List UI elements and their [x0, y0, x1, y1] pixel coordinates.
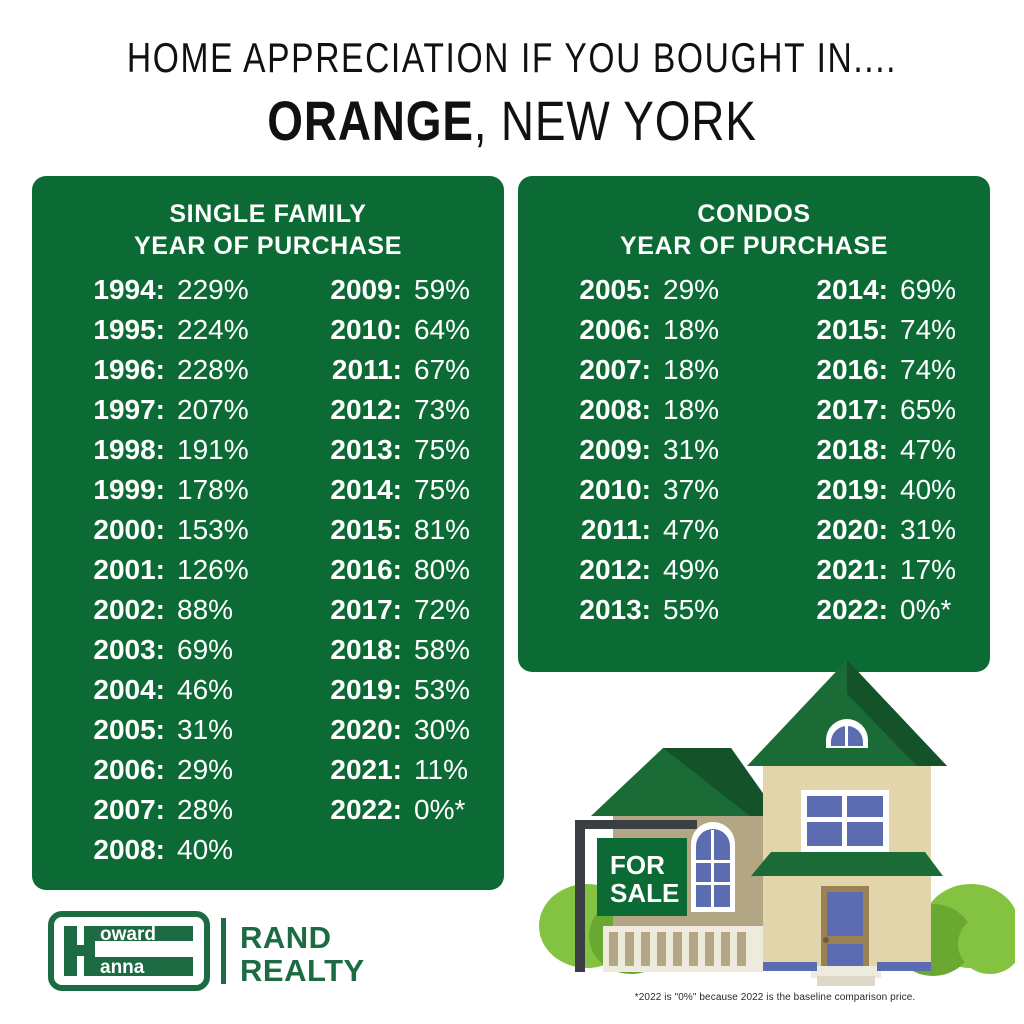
row-year: 1997: — [57, 394, 165, 426]
row-year: 2008: — [57, 834, 165, 866]
row-year: 2017: — [294, 594, 402, 626]
panel-condos-header-line2: YEAR OF PURCHASE — [518, 230, 990, 262]
panel-single-family-header-line1: SINGLE FAMILY — [32, 198, 504, 230]
row-percent: 207% — [177, 394, 249, 426]
table-row: 2017:72% — [268, 594, 504, 634]
row-percent: 18% — [663, 354, 719, 386]
row-percent: 47% — [663, 514, 719, 546]
row-percent: 74% — [900, 354, 956, 386]
table-row: 2013:55% — [518, 594, 754, 634]
row-year: 2009: — [543, 434, 651, 466]
panel-condos: CONDOS YEAR OF PURCHASE 2005:29%2006:18%… — [518, 176, 990, 672]
row-percent: 30% — [414, 714, 470, 746]
row-percent: 67% — [414, 354, 470, 386]
row-percent: 88% — [177, 594, 233, 626]
table-row: 2014:75% — [268, 474, 504, 514]
panel-single-family-header-line2: YEAR OF PURCHASE — [32, 230, 504, 262]
row-year: 2005: — [57, 714, 165, 746]
panel-condos-header-line1: CONDOS — [518, 198, 990, 230]
row-percent: 0%* — [414, 794, 465, 826]
table-row: 1994:229% — [32, 274, 268, 314]
row-year: 1999: — [57, 474, 165, 506]
table-row: 2018:47% — [754, 434, 990, 474]
table-row: 2010:37% — [518, 474, 754, 514]
row-percent: 47% — [900, 434, 956, 466]
sign-arm — [575, 820, 697, 829]
table-row: 2019:40% — [754, 474, 990, 514]
row-year: 2022: — [294, 794, 402, 826]
row-year: 2002: — [57, 594, 165, 626]
row-year: 2008: — [543, 394, 651, 426]
table-row: 2022:0%* — [268, 794, 504, 834]
row-year: 2013: — [543, 594, 651, 626]
table-row: 2009:31% — [518, 434, 754, 474]
title-state: NEW YORK — [501, 89, 757, 152]
single-family-columns: 1994:229%1995:224%1996:228%1997:207%1998… — [32, 274, 504, 874]
row-percent: 55% — [663, 594, 719, 626]
table-row: 2007:18% — [518, 354, 754, 394]
row-percent: 72% — [414, 594, 470, 626]
row-percent: 31% — [900, 514, 956, 546]
row-year: 2016: — [780, 354, 888, 386]
row-year: 2003: — [57, 634, 165, 666]
row-percent: 31% — [177, 714, 233, 746]
row-percent: 75% — [414, 474, 470, 506]
row-percent: 37% — [663, 474, 719, 506]
for-sale-line1: FOR — [610, 850, 665, 880]
table-row: 2013:75% — [268, 434, 504, 474]
table-row: 2011:47% — [518, 514, 754, 554]
table-row: 2016:80% — [268, 554, 504, 594]
table-row: 1999:178% — [32, 474, 268, 514]
row-year: 2011: — [294, 354, 402, 386]
row-percent: 11% — [414, 754, 468, 786]
row-year: 2011: — [543, 514, 651, 546]
row-percent: 178% — [177, 474, 249, 506]
row-percent: 17% — [900, 554, 956, 586]
row-percent: 75% — [414, 434, 470, 466]
row-percent: 126% — [177, 554, 249, 586]
row-year: 1994: — [57, 274, 165, 306]
row-year: 2021: — [780, 554, 888, 586]
row-percent: 29% — [663, 274, 719, 306]
row-year: 2017: — [780, 394, 888, 426]
title-separator: , — [474, 89, 501, 152]
row-year: 2018: — [294, 634, 402, 666]
row-year: 2007: — [543, 354, 651, 386]
row-percent: 28% — [177, 794, 233, 826]
row-percent: 228% — [177, 354, 249, 386]
condos-column-2: 2014:69%2015:74%2016:74%2017:65%2018:47%… — [754, 274, 990, 634]
table-row: 2010:64% — [268, 314, 504, 354]
row-percent: 191% — [177, 434, 249, 466]
row-percent: 59% — [414, 274, 470, 306]
row-year: 2010: — [543, 474, 651, 506]
panel-single-family: SINGLE FAMILY YEAR OF PURCHASE 1994:229%… — [32, 176, 504, 890]
page-header: HOME APPRECIATION IF YOU BOUGHT IN.... O… — [0, 0, 1024, 160]
table-row: 2021:17% — [754, 554, 990, 594]
row-percent: 80% — [414, 554, 470, 586]
row-year: 2006: — [543, 314, 651, 346]
panel-single-family-header: SINGLE FAMILY YEAR OF PURCHASE — [32, 198, 504, 262]
table-row: 2018:58% — [268, 634, 504, 674]
row-percent: 65% — [900, 394, 956, 426]
table-row: 2006:18% — [518, 314, 754, 354]
row-year: 2020: — [294, 714, 402, 746]
row-year: 2007: — [57, 794, 165, 826]
table-row: 2000:153% — [32, 514, 268, 554]
row-percent: 18% — [663, 314, 719, 346]
howard-hanna-rand-realty-logo-icon: oward anna RAND REALTY — [48, 910, 378, 994]
row-year: 2021: — [294, 754, 402, 786]
row-year: 2012: — [294, 394, 402, 426]
row-percent: 69% — [177, 634, 233, 666]
row-percent: 49% — [663, 554, 719, 586]
svg-text:oward: oward — [100, 924, 156, 945]
table-row: 1998:191% — [32, 434, 268, 474]
table-row: 2019:53% — [268, 674, 504, 714]
table-row: 2008:40% — [32, 834, 268, 874]
row-year: 2014: — [294, 474, 402, 506]
row-year: 2018: — [780, 434, 888, 466]
table-row: 2006:29% — [32, 754, 268, 794]
table-row: 2002:88% — [32, 594, 268, 634]
row-percent: 64% — [414, 314, 470, 346]
row-percent: 153% — [177, 514, 249, 546]
sign-post — [575, 820, 585, 972]
table-row: 2021:11% — [268, 754, 504, 794]
row-year: 2012: — [543, 554, 651, 586]
table-row: 2022:0%* — [754, 594, 990, 634]
door-knob-icon — [823, 937, 829, 943]
for-sale-line2: SALE — [610, 878, 679, 908]
row-year: 2013: — [294, 434, 402, 466]
row-percent: 31% — [663, 434, 719, 466]
row-year: 2009: — [294, 274, 402, 306]
svg-text:RAND: RAND — [240, 920, 332, 955]
table-row: 2020:31% — [754, 514, 990, 554]
row-percent: 53% — [414, 674, 470, 706]
svg-text:REALTY: REALTY — [240, 953, 365, 988]
table-row: 2014:69% — [754, 274, 990, 314]
table-row: 2001:126% — [32, 554, 268, 594]
row-year: 2020: — [780, 514, 888, 546]
table-row: 2005:31% — [32, 714, 268, 754]
row-percent: 40% — [900, 474, 956, 506]
row-percent: 58% — [414, 634, 470, 666]
panel-condos-header: CONDOS YEAR OF PURCHASE — [518, 198, 990, 262]
row-year: 2019: — [294, 674, 402, 706]
single-family-column-2: 2009:59%2010:64%2011:67%2012:73%2013:75%… — [268, 274, 504, 874]
page-title-line2: ORANGE, NEW YORK — [92, 88, 932, 153]
table-row: 2020:30% — [268, 714, 504, 754]
row-percent: 46% — [177, 674, 233, 706]
row-year: 2010: — [294, 314, 402, 346]
house-for-sale-icon: FOR SALE — [535, 648, 1015, 988]
row-percent: 73% — [414, 394, 470, 426]
row-percent: 229% — [177, 274, 249, 306]
row-percent: 29% — [177, 754, 233, 786]
row-year: 2000: — [57, 514, 165, 546]
door-awning — [751, 852, 943, 876]
table-row: 2011:67% — [268, 354, 504, 394]
table-row: 2015:74% — [754, 314, 990, 354]
row-percent: 18% — [663, 394, 719, 426]
table-row: 2012:49% — [518, 554, 754, 594]
table-row: 2017:65% — [754, 394, 990, 434]
row-year: 2005: — [543, 274, 651, 306]
title-city: ORANGE — [267, 89, 473, 152]
svg-text:anna: anna — [100, 957, 145, 978]
table-row: 1995:224% — [32, 314, 268, 354]
house-illustration: FOR SALE — [535, 648, 1015, 988]
row-year: 1996: — [57, 354, 165, 386]
row-year: 2006: — [57, 754, 165, 786]
table-row: 2016:74% — [754, 354, 990, 394]
table-row: 2003:69% — [32, 634, 268, 674]
table-row: 1997:207% — [32, 394, 268, 434]
table-row: 2012:73% — [268, 394, 504, 434]
row-percent: 40% — [177, 834, 233, 866]
page-title-line1: HOME APPRECIATION IF YOU BOUGHT IN.... — [102, 34, 921, 82]
row-year: 2016: — [294, 554, 402, 586]
table-row: 2007:28% — [32, 794, 268, 834]
row-year: 2001: — [57, 554, 165, 586]
table-row: 1996:228% — [32, 354, 268, 394]
row-year: 2004: — [57, 674, 165, 706]
table-row: 2004:46% — [32, 674, 268, 714]
row-percent: 0%* — [900, 594, 951, 626]
row-percent: 81% — [414, 514, 470, 546]
table-row: 2015:81% — [268, 514, 504, 554]
brand-logo: oward anna RAND REALTY — [48, 910, 378, 994]
table-row: 2008:18% — [518, 394, 754, 434]
row-year: 2015: — [780, 314, 888, 346]
row-percent: 224% — [177, 314, 249, 346]
row-year: 2019: — [780, 474, 888, 506]
row-year: 2014: — [780, 274, 888, 306]
row-percent: 69% — [900, 274, 956, 306]
single-family-column-1: 1994:229%1995:224%1996:228%1997:207%1998… — [32, 274, 268, 874]
row-percent: 74% — [900, 314, 956, 346]
row-year: 1998: — [57, 434, 165, 466]
row-year: 2015: — [294, 514, 402, 546]
table-row: 2009:59% — [268, 274, 504, 314]
table-row: 2005:29% — [518, 274, 754, 314]
row-year: 1995: — [57, 314, 165, 346]
condos-column-1: 2005:29%2006:18%2007:18%2008:18%2009:31%… — [518, 274, 754, 634]
footnote: *2022 is "0%" because 2022 is the baseli… — [560, 992, 990, 1003]
condos-columns: 2005:29%2006:18%2007:18%2008:18%2009:31%… — [518, 274, 990, 634]
row-year: 2022: — [780, 594, 888, 626]
